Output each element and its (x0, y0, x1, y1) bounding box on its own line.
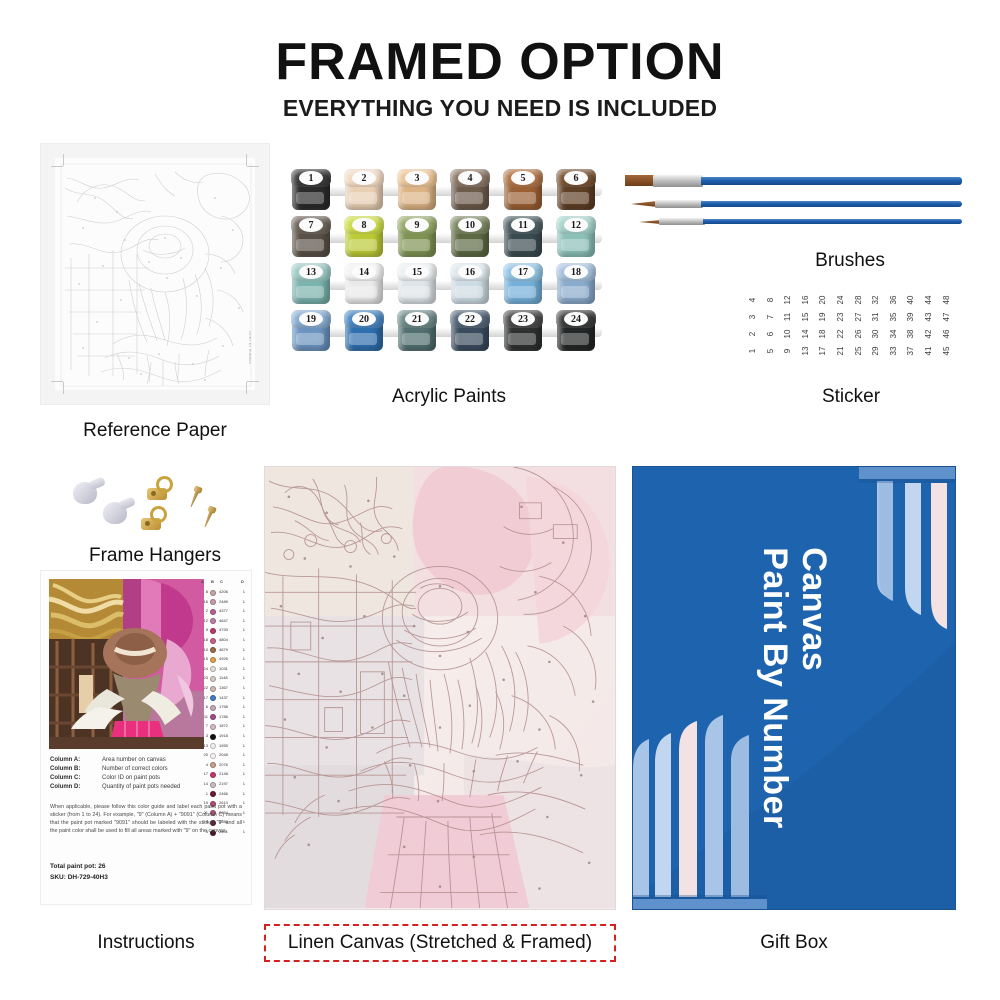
product-infographic: FRAMED OPTION EVERYTHING YOU NEED IS INC… (0, 0, 1000, 1000)
legend-row-1: Column A:Area number on canvas (50, 757, 245, 766)
sticker-column: 17181920 (815, 292, 831, 364)
paint-pot-sheen (561, 286, 589, 298)
paint-pot-number: 14 (352, 265, 376, 279)
paint-pot-number: 11 (511, 218, 535, 232)
instructions-paragraph: When applicable, please follow this colo… (50, 803, 242, 835)
paint-pot-number: 8 (352, 218, 376, 232)
sticker-column: 29303132 (868, 292, 884, 364)
paint-pot-number: 15 (405, 265, 429, 279)
legend-text: Quantity of paint pots needed (102, 784, 180, 790)
paint-pot-12: 12 (555, 215, 597, 259)
color-chart-qty: 1 (243, 675, 245, 680)
color-chart-row: 1624891 (199, 598, 247, 607)
paint-pot-1: 1 (290, 168, 332, 212)
color-chart-swatch (210, 618, 216, 624)
color-chart-qty: 1 (243, 685, 245, 690)
color-chart-id: 4926 (219, 656, 228, 661)
caption-instructions: Instructions (40, 932, 252, 954)
sticker-column: 37383940 (903, 292, 919, 364)
color-chart-row: 842061 (199, 588, 247, 597)
color-chart-qty: 1 (243, 800, 245, 805)
sticker-number-20: 20 (815, 292, 831, 308)
color-chart-qty: 1 (243, 733, 245, 738)
sticker-number-15: 15 (798, 309, 814, 325)
sticker-number-9: 9 (780, 343, 796, 359)
color-chart-row: 1246471 (199, 617, 247, 626)
color-chart-qty: 1 (243, 647, 245, 652)
paint-pot-sheen (349, 286, 377, 298)
paint-pot-sheen (508, 286, 536, 298)
color-chart-swatch (210, 628, 216, 634)
color-chart-id: 1437 (219, 695, 228, 700)
color-chart-area: 6 (200, 704, 208, 709)
sticker-number-5: 5 (763, 343, 779, 359)
paint-pot-sheen (349, 192, 377, 204)
color-chart-header-C: C (220, 579, 223, 584)
paint-pot-9: 9 (396, 215, 438, 259)
color-chart-swatch (210, 638, 216, 644)
instructions-color-chart: ABCD842061162489124377112464719479311848… (199, 579, 247, 841)
sticker-number-22: 22 (833, 326, 849, 342)
paint-pot-number: 21 (405, 312, 429, 326)
paint-pot-sheen (508, 333, 536, 345)
color-chart-swatch (210, 657, 216, 663)
crop-mark (247, 381, 259, 382)
paint-pot-number: 16 (458, 265, 482, 279)
sticker-number-10: 10 (780, 326, 796, 342)
paint-pot-sheen (455, 333, 483, 345)
paint-pot-number: 20 (352, 312, 376, 326)
sticker-number-16: 16 (798, 292, 814, 308)
paint-pot-5: 5 (502, 168, 544, 212)
color-chart-id: 1955 (219, 743, 228, 748)
color-chart-qty: 1 (243, 666, 245, 671)
sticker-number-35: 35 (886, 309, 902, 325)
color-chart-id: 4804 (219, 637, 228, 642)
crop-mark (51, 381, 63, 382)
legend-text: Color ID on paint pots (102, 775, 160, 781)
color-chart-row: 1319551 (199, 742, 247, 751)
sticker-number-1: 1 (745, 343, 761, 359)
color-chart-id: 4879 (219, 647, 228, 652)
color-chart-id: 1367 (219, 685, 228, 690)
color-chart-id: 1148 (219, 675, 228, 680)
color-chart-row: 617581 (199, 703, 247, 712)
color-chart-row: 947931 (199, 626, 247, 635)
paint-pot-sheen (296, 239, 324, 251)
sku-label: SKU: (50, 874, 66, 881)
color-chart-row: 2213671 (199, 684, 247, 693)
paint-pot-sheen (349, 239, 377, 251)
sticker-column: 45464748 (939, 292, 955, 364)
paint-pot-16: 16 (449, 262, 491, 306)
color-chart-area: 18 (200, 637, 208, 642)
sticker-number-7: 7 (763, 309, 779, 325)
paint-pot-22: 22 (449, 309, 491, 353)
sticker-number-40: 40 (903, 292, 919, 308)
color-chart-qty: 1 (243, 723, 245, 728)
color-chart-area: 7 (200, 723, 208, 728)
screw (187, 485, 203, 508)
paint-pot-20: 20 (343, 309, 385, 353)
legend-row-3: Column C:Color ID on paint pots (50, 775, 245, 784)
crop-mark (247, 166, 259, 167)
color-chart-qty: 1 (243, 618, 245, 623)
color-chart-row: 2410311 (199, 665, 247, 674)
linen-canvas-image (264, 466, 616, 910)
sticker-number-36: 36 (886, 292, 902, 308)
sticker-number-29: 29 (868, 343, 884, 359)
paint-pot-number: 10 (458, 218, 482, 232)
color-chart-qty: 1 (243, 704, 245, 709)
legend-row-2: Column B:Number of correct colors (50, 766, 245, 775)
paint-pot-number: 23 (511, 312, 535, 326)
d-ring-hanger (141, 506, 167, 530)
sticker-number-44: 44 (921, 292, 937, 308)
paint-pot-6: 6 (555, 168, 597, 212)
paint-pot-number: 2 (352, 171, 376, 185)
sticker-number-2: 2 (745, 326, 761, 342)
screw (201, 505, 217, 528)
color-chart-qty: 1 (243, 589, 245, 594)
paint-pot-23: 23 (502, 309, 544, 353)
color-chart-swatch (210, 705, 216, 711)
color-chart-row: 2311481 (199, 674, 247, 683)
brush-round-medium (631, 200, 962, 209)
paint-pot-number: 24 (564, 312, 588, 326)
crop-mark (51, 166, 63, 167)
caption-reference-paper: Reference Paper (40, 420, 270, 442)
color-chart-id: 4377 (219, 608, 228, 613)
paint-pot-number: 17 (511, 265, 535, 279)
color-chart-area: 17 (200, 695, 208, 700)
paint-pot-18: 18 (555, 262, 597, 306)
paint-pot-number: 7 (299, 218, 323, 232)
sticker-number-19: 19 (815, 309, 831, 325)
paint-pot-number: 4 (458, 171, 482, 185)
color-chart-qty: 1 (243, 743, 245, 748)
color-chart-id: 4647 (219, 618, 228, 623)
paint-pot-3: 3 (396, 168, 438, 212)
color-chart-area: 2 (200, 608, 208, 613)
paint-pot-sheen (455, 286, 483, 298)
paint-pot-sheen (455, 239, 483, 251)
sticker-number-4: 4 (745, 292, 761, 308)
sticker-number-41: 41 (921, 343, 937, 359)
caption-gift-box: Gift Box (632, 932, 956, 954)
crop-mark (246, 154, 247, 166)
color-chart-id: 4206 (219, 589, 228, 594)
sticker-number-32: 32 (868, 292, 884, 308)
paint-pot-sheen (402, 333, 430, 345)
sticker-number-42: 42 (921, 326, 937, 342)
brushes-group (625, 170, 965, 255)
color-chart-row: 1848041 (199, 636, 247, 645)
paint-pot-15: 15 (396, 262, 438, 306)
paint-pot-row: 131415161718 (290, 262, 608, 306)
paint-pot-11: 11 (502, 215, 544, 259)
color-chart-swatch (210, 666, 216, 672)
color-chart-qty: 1 (243, 656, 245, 661)
color-chart-header: ABCD (199, 579, 247, 588)
color-chart-swatch (210, 599, 216, 605)
sticker-number-46: 46 (939, 326, 955, 342)
sticker-number-25: 25 (851, 343, 867, 359)
paint-pot-number: 22 (458, 312, 482, 326)
color-chart-swatch (210, 714, 216, 720)
paint-pot-number: 6 (564, 171, 588, 185)
color-chart-id: 1872 (219, 723, 228, 728)
color-chart-area: 22 (200, 685, 208, 690)
caption-sticker: Sticker (745, 386, 957, 408)
paint-pot-sheen (561, 192, 589, 204)
frame-hangers-group (65, 470, 245, 540)
color-chart-area: 24 (200, 666, 208, 671)
sticker-number-38: 38 (903, 326, 919, 342)
sticker-number-30: 30 (868, 326, 884, 342)
paint-pot-sheen (561, 239, 589, 251)
total-paint-pot-label: Total paint pot: (50, 863, 96, 870)
sticker-number-31: 31 (868, 309, 884, 325)
crop-mark (63, 382, 64, 394)
sticker-column: 21222324 (833, 292, 849, 364)
wall-plug (103, 502, 127, 524)
reference-paper-artwork: PAINT BY NUMBER (55, 158, 255, 390)
instructions-preview-image (49, 579, 204, 749)
legend-text: Area number on canvas (102, 757, 166, 763)
color-chart-header-D: D (241, 579, 244, 584)
paint-pot-number: 13 (299, 265, 323, 279)
gift-box-image: Canvas Paint By Number (632, 466, 956, 910)
paint-pot-sheen (455, 192, 483, 204)
color-chart-header-B: B (211, 579, 214, 584)
paint-pot-sheen (561, 333, 589, 345)
paint-pot-2: 2 (343, 168, 385, 212)
color-chart-area: 16 (200, 599, 208, 604)
wall-plug (73, 482, 97, 504)
color-chart-id: 1031 (219, 666, 228, 671)
instructions-legend: Column A:Area number on canvasColumn B:N… (50, 757, 245, 793)
sticker-number-23: 23 (833, 309, 849, 325)
color-chart-row: 243771 (199, 607, 247, 616)
color-chart-area: 3 (200, 733, 208, 738)
sticker-sheet: 1234567891011121314151617181920212223242… (745, 292, 957, 364)
caption-linen-canvas: Linen Canvas (Stretched & Framed) (264, 924, 616, 962)
color-chart-swatch (210, 686, 216, 692)
caption-brushes: Brushes (740, 250, 960, 272)
color-chart-area: 12 (200, 618, 208, 623)
paint-pot-21: 21 (396, 309, 438, 353)
color-chart-qty: 1 (243, 627, 245, 632)
sticker-number-39: 39 (903, 309, 919, 325)
total-paint-pot-value: 26 (98, 863, 105, 870)
sticker-number-26: 26 (851, 326, 867, 342)
brush-round-fine (639, 218, 962, 227)
sticker-column: 5678 (763, 292, 779, 364)
paint-pot-17: 17 (502, 262, 544, 306)
sticker-number-17: 17 (815, 343, 831, 359)
color-chart-qty: 1 (243, 695, 245, 700)
color-chart-swatch (210, 743, 216, 749)
paint-pot-row: 789101112 (290, 215, 608, 259)
paint-pot-sheen (296, 333, 324, 345)
page-title: FRAMED OPTION (0, 32, 1000, 92)
paint-pot-sheen (402, 286, 430, 298)
paint-pot-8: 8 (343, 215, 385, 259)
legend-label: Column D: (50, 784, 80, 790)
color-chart-swatch (210, 695, 216, 701)
sticker-number-45: 45 (939, 343, 955, 359)
crop-mark (246, 382, 247, 394)
page-subtitle: EVERYTHING YOU NEED IS INCLUDED (0, 95, 1000, 122)
legend-row-4: Column D:Quantity of paint pots needed (50, 784, 245, 793)
legend-label: Column C: (50, 775, 80, 781)
sticker-column: 41424344 (921, 292, 937, 364)
sticker-column: 13141516 (798, 292, 814, 364)
legend-label: Column A: (50, 757, 80, 763)
reference-paper-image: PAINT BY NUMBER (40, 143, 270, 405)
paint-pot-row: 192021222324 (290, 309, 608, 353)
paint-pot-number: 5 (511, 171, 535, 185)
color-chart-row: 319181 (199, 732, 247, 741)
paint-pot-sheen (296, 286, 324, 298)
paint-pot-number: 12 (564, 218, 588, 232)
paint-pot-number: 19 (299, 312, 323, 326)
instructions-card: ABCD842061162489124377112464719479311848… (40, 570, 252, 905)
sticker-column: 25262728 (851, 292, 867, 364)
color-chart-area: 9 (200, 627, 208, 632)
sticker-column: 33343536 (886, 292, 902, 364)
canvas-lineart-svg (265, 467, 615, 908)
color-chart-swatch (210, 590, 216, 596)
color-chart-row: 1549261 (199, 655, 247, 664)
paint-pot-row: 123456 (290, 168, 608, 212)
gift-box-line1: Canvas (795, 547, 833, 671)
sticker-number-27: 27 (851, 309, 867, 325)
paint-pot-number: 18 (564, 265, 588, 279)
brush-flat (625, 176, 962, 185)
sticker-column: 1234 (745, 292, 761, 364)
paint-pot-sheen (402, 239, 430, 251)
d-ring-hanger (147, 476, 173, 500)
sticker-number-37: 37 (903, 343, 919, 359)
color-chart-header-A: A (201, 579, 204, 584)
sticker-number-13: 13 (798, 343, 814, 359)
sticker-number-33: 33 (886, 343, 902, 359)
color-chart-id: 4793 (219, 627, 228, 632)
paint-pot-number: 1 (299, 171, 323, 185)
color-chart-swatch (210, 676, 216, 682)
caption-acrylic-paints: Acrylic Paints (290, 386, 608, 408)
paint-pot-13: 13 (290, 262, 332, 306)
color-chart-id: 2489 (219, 599, 228, 604)
sticker-number-18: 18 (815, 326, 831, 342)
color-chart-row: 1117861 (199, 713, 247, 722)
crop-mark (63, 154, 64, 166)
color-chart-area: 10 (200, 647, 208, 652)
sticker-number-8: 8 (763, 292, 779, 308)
paint-pot-19: 19 (290, 309, 332, 353)
sticker-number-24: 24 (833, 292, 849, 308)
color-chart-id: 1758 (219, 704, 228, 709)
sticker-column: 9101112 (780, 292, 796, 364)
acrylic-paints-group: 123456789101112131415161718192021222324 (290, 168, 608, 358)
sticker-number-43: 43 (921, 309, 937, 325)
sticker-number-21: 21 (833, 343, 849, 359)
color-chart-qty: 1 (243, 608, 245, 613)
caption-frame-hangers: Frame Hangers (50, 545, 260, 567)
sku-value: DH-729-40H3 (68, 874, 108, 881)
color-chart-swatch (210, 724, 216, 730)
sticker-number-28: 28 (851, 292, 867, 308)
legend-text: Number of correct colors (102, 766, 168, 772)
paint-pot-24: 24 (555, 309, 597, 353)
sticker-number-34: 34 (886, 326, 902, 342)
color-chart-qty: 1 (243, 829, 245, 834)
paint-pot-sheen (402, 192, 430, 204)
color-chart-row: 1048791 (199, 646, 247, 655)
color-chart-qty: 1 (243, 714, 245, 719)
color-chart-area: 13 (200, 743, 208, 748)
paint-pot-number: 9 (405, 218, 429, 232)
paint-pot-10: 10 (449, 215, 491, 259)
total-paint-pot: Total paint pot: 26 (50, 863, 106, 870)
color-chart-qty: 1 (243, 599, 245, 604)
color-chart-id: 1918 (219, 733, 228, 738)
color-chart-qty: 1 (243, 810, 245, 815)
color-chart-row: 1714371 (199, 694, 247, 703)
color-chart-area: 23 (200, 675, 208, 680)
sticker-number-48: 48 (939, 292, 955, 308)
reference-paper-signature: PAINT BY NUMBER (248, 331, 252, 364)
color-chart-swatch (210, 734, 216, 740)
paint-pot-number: 3 (405, 171, 429, 185)
legend-label: Column B: (50, 766, 80, 772)
color-chart-area: 11 (200, 714, 208, 719)
color-chart-qty: 1 (243, 819, 245, 824)
color-chart-area: 8 (200, 589, 208, 594)
paint-pot-sheen (508, 239, 536, 251)
gift-box-line2: Paint By Number (756, 547, 794, 828)
color-chart-swatch (210, 647, 216, 653)
paint-pot-4: 4 (449, 168, 491, 212)
instructions-artwork-svg (49, 579, 204, 749)
color-chart-area: 15 (200, 656, 208, 661)
gift-box-title: Canvas Paint By Number (755, 547, 833, 828)
sticker-number-12: 12 (780, 292, 796, 308)
paint-pot-sheen (296, 192, 324, 204)
color-chart-id: 1786 (219, 714, 228, 719)
paint-pot-sheen (349, 333, 377, 345)
paint-pot-sheen (508, 192, 536, 204)
sticker-number-14: 14 (798, 326, 814, 342)
reference-lineart-svg (55, 158, 255, 390)
sticker-number-6: 6 (763, 326, 779, 342)
paint-pot-14: 14 (343, 262, 385, 306)
color-chart-row: 718721 (199, 722, 247, 731)
paint-pot-7: 7 (290, 215, 332, 259)
sticker-number-3: 3 (745, 309, 761, 325)
sticker-number-47: 47 (939, 309, 955, 325)
sku-line: SKU: DH-729-40H3 (50, 874, 108, 881)
sticker-number-11: 11 (780, 309, 796, 325)
color-chart-qty: 1 (243, 637, 245, 642)
color-chart-swatch (210, 609, 216, 615)
